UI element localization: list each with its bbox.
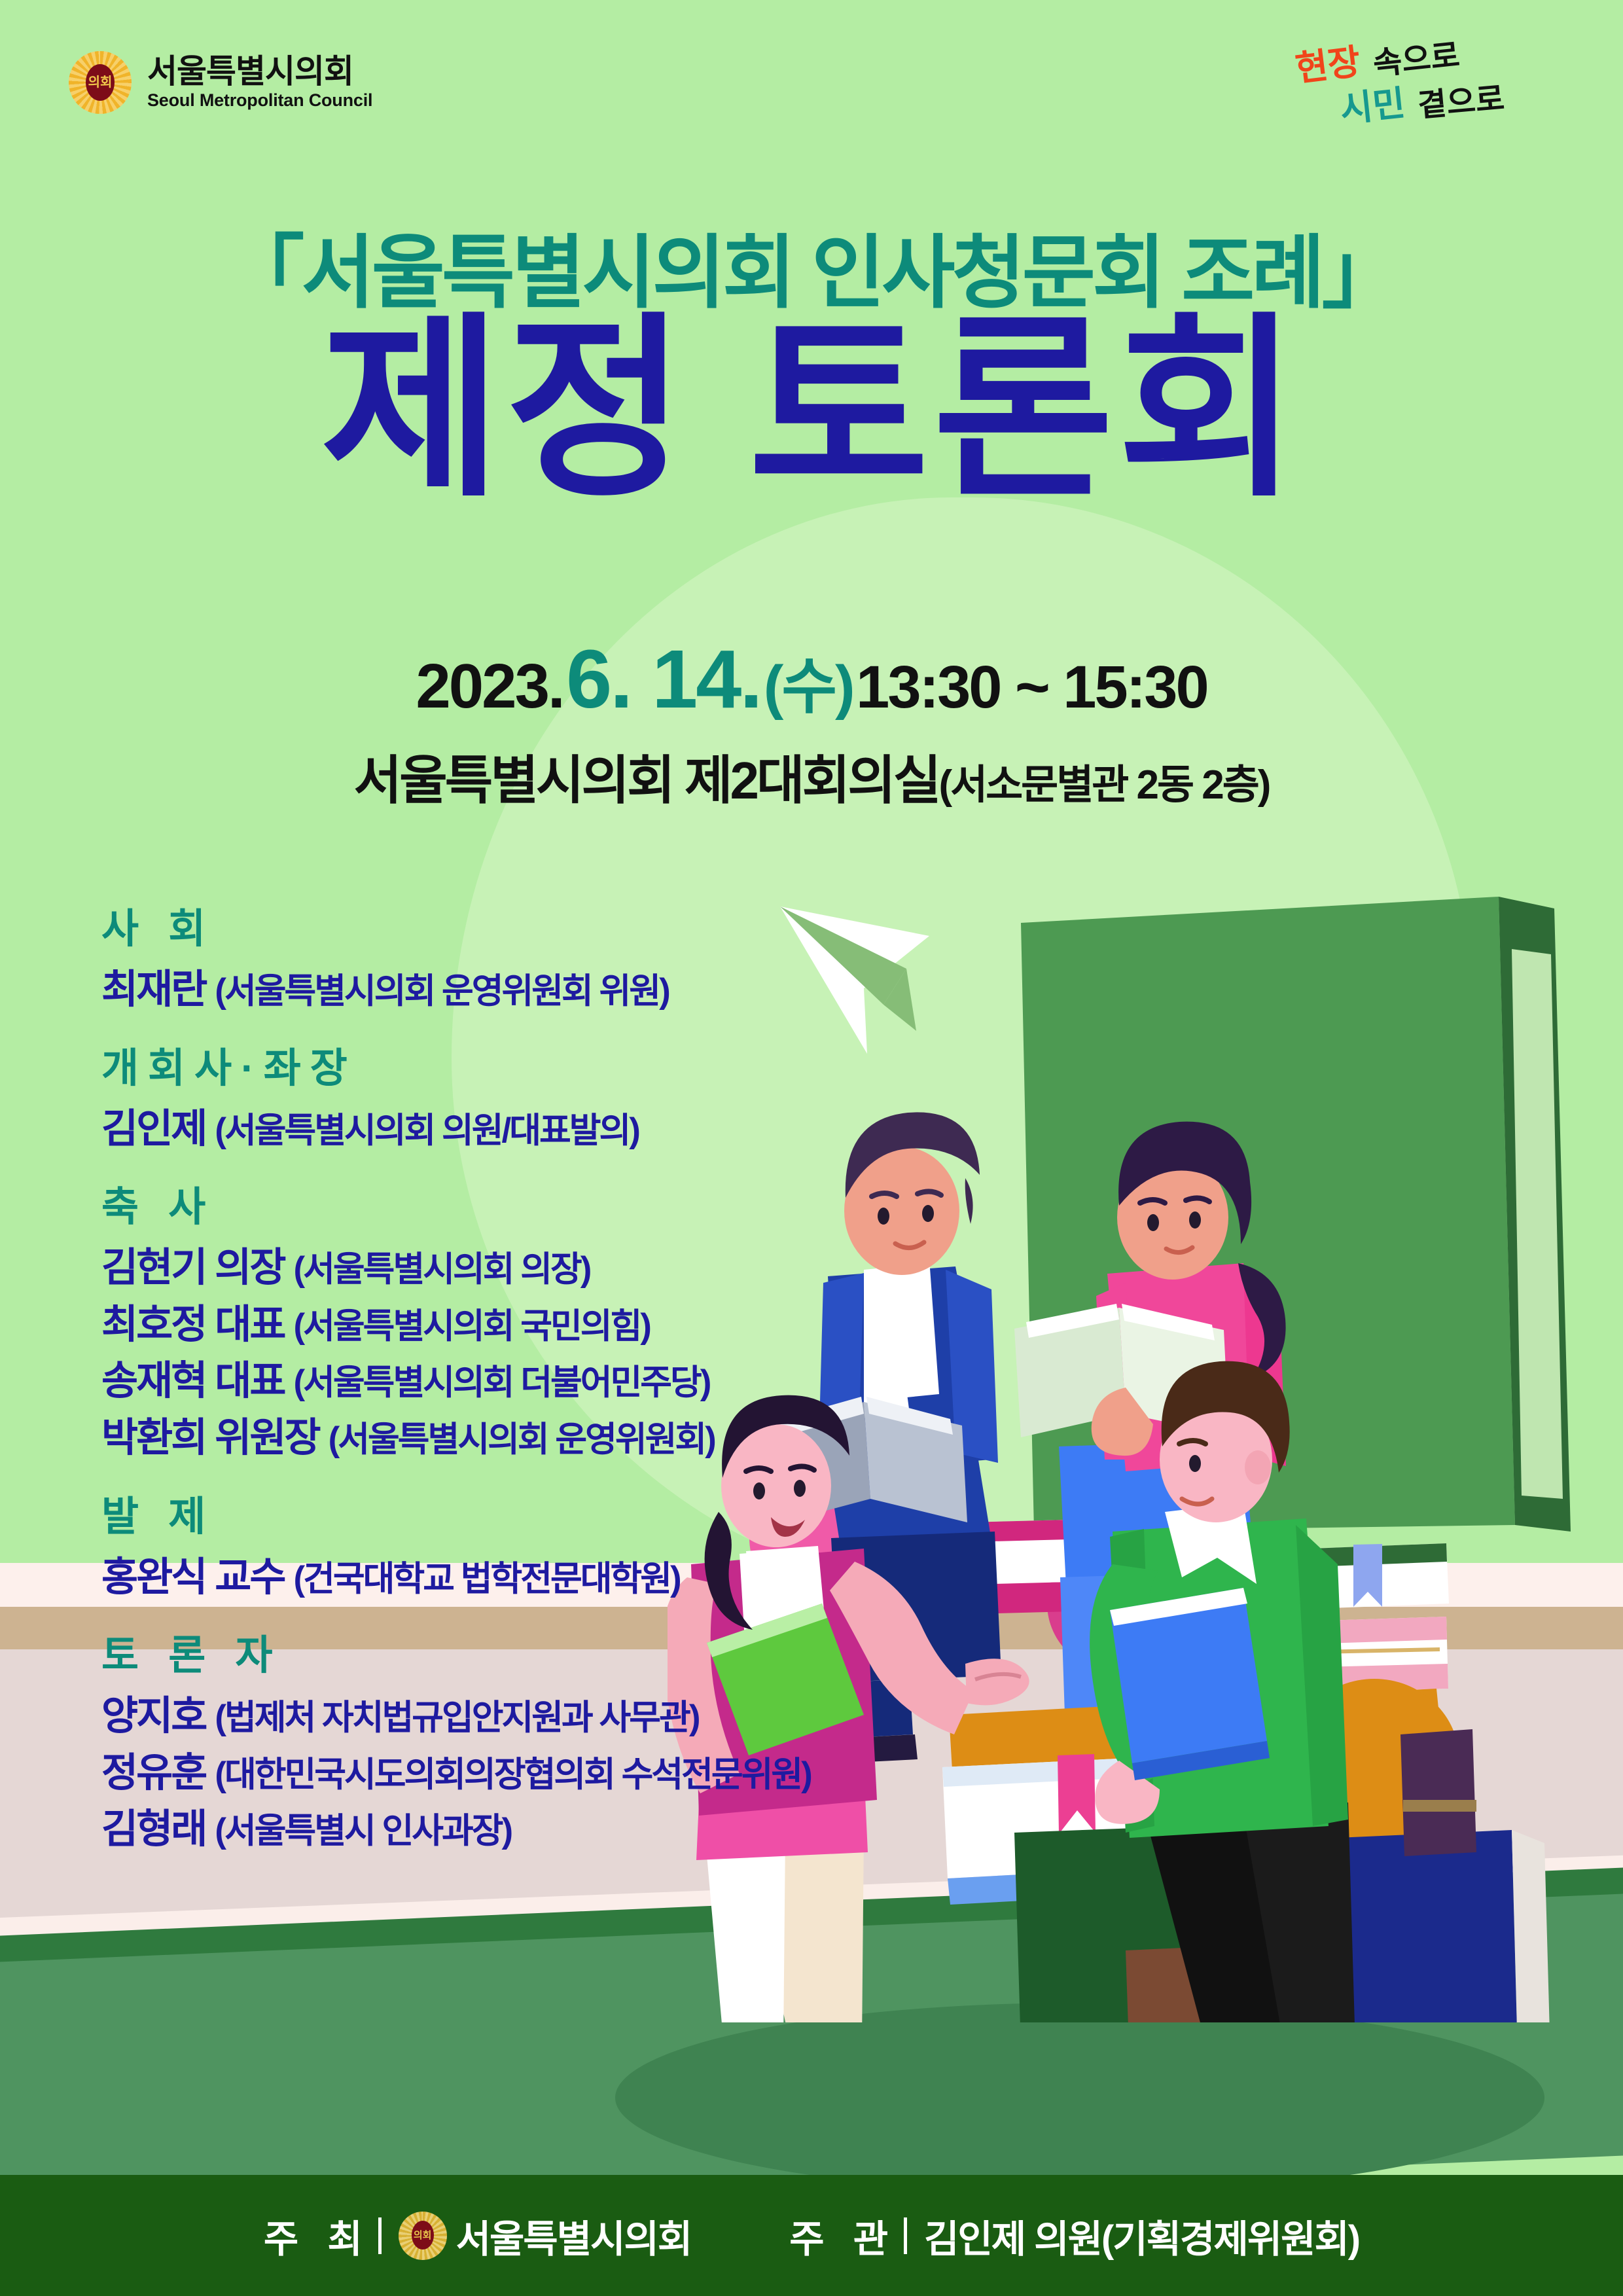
program-label: 개회사·좌장 [101, 1035, 926, 1094]
slogan-word-gyeoteuro: 곁으로 [1416, 82, 1506, 124]
organizer-label: 주 관 [789, 2208, 897, 2263]
program-label: 발 제 [101, 1483, 926, 1542]
person-name: 박환희 위원장 [101, 1415, 319, 1460]
person-name: 정유훈 [101, 1750, 205, 1795]
program-entry: 박환희 위원장 (서울특별시의회 운영위원회) [101, 1409, 926, 1466]
person-name: 양지호 [101, 1693, 205, 1738]
program-block-congratulatory: 축 사 김현기 의장 (서울특별시의회 의장) 최호정 대표 (서울특별시의회 … [101, 1174, 926, 1465]
footer-emblem-icon: 의회 [399, 2212, 447, 2260]
program-entry: 홍완식 교수 (건국대학교 법학전문대학원) [101, 1549, 926, 1605]
person-name: 송재혁 대표 [101, 1358, 285, 1403]
slogan-word-sogeuro: 속으로 [1372, 41, 1461, 82]
slogan-word-hyeonjang: 현장 [1293, 42, 1363, 89]
slogan-word-simin: 시민 [1338, 84, 1407, 130]
floor-shadow-ellipse [615, 2003, 1544, 2193]
person-org: (서울특별시의회 더불어민주당) [294, 1363, 710, 1402]
program-label: 사 회 [101, 895, 926, 954]
venue-sub: (서소문별관 2동 2층) [938, 762, 1269, 808]
person-org: (서울특별시의회 운영위원회 위원) [215, 972, 668, 1011]
person-org: (대한민국시도의회의장협의회 수석전문위원) [215, 1755, 810, 1794]
person-org: (서울특별시의회 의원/대표발의) [215, 1111, 639, 1150]
organizer-group: 주 관 김인제 의원(기획경제위원회) [789, 2208, 1359, 2263]
person-org: (서울특별시의회 운영위원회) [329, 1420, 715, 1459]
program-entry: 김인제 (서울특별시의회 의원/대표발의) [101, 1100, 926, 1157]
footer-bar: 주 최 의회 서울특별시의회 주 관 김인제 의원(기획경제위원회) [0, 2175, 1623, 2296]
person-org: (건국대학교 법학전문대학원) [294, 1560, 680, 1598]
venue-main: 서울특별시의회 제2대회의실 [354, 751, 939, 810]
person-name: 김인제 [101, 1106, 205, 1151]
organizer-value: 김인제 의원(기획경제위원회) [924, 2208, 1359, 2263]
person-name: 최호정 대표 [101, 1302, 285, 1346]
event-time: 13:30 ~ 15:30 [856, 654, 1207, 721]
footer-emblem-label: 의회 [414, 2228, 432, 2242]
program-entry: 정유훈 (대한민국시도의회의장협의회 수석전문위원) [101, 1744, 926, 1801]
page-title: 제정 토론회 [0, 306, 1623, 512]
campaign-slogan: 현장 속으로 시민 곁으로 [1291, 41, 1552, 132]
program-block-panelists: 토 론 자 양지호 (법제처 자치법규입안지원과 사무관) 정유훈 (대한민국시… [101, 1622, 926, 1857]
person-org: (서울특별시의회 국민의힘) [294, 1307, 650, 1346]
person-org: (서울특별시 인사과장) [215, 1812, 511, 1850]
program-entry: 송재혁 대표 (서울특별시의회 더불어민주당) [101, 1352, 926, 1409]
logo-english-name: Seoul Metropolitan Council [147, 90, 372, 111]
event-year: 2023. [416, 651, 563, 721]
logo-korean-name: 서울특별시의회 [147, 54, 372, 89]
event-datetime: 2023. 6. 14. (수) 13:30 ~ 15:30 [0, 632, 1623, 726]
host-value: 서울특별시의회 [456, 2208, 692, 2263]
program-entry: 김형래 (서울특별시 인사과장) [101, 1801, 926, 1857]
emblem-label: 의회 [88, 76, 113, 89]
event-monthday: 6. 14. [566, 633, 760, 725]
program-label: 토 론 자 [101, 1622, 926, 1681]
event-venue: 서울특별시의회 제2대회의실(서소문별관 2동 2층) [0, 738, 1623, 814]
program-entry: 최재란 (서울특별시의회 운영위원회 위원) [101, 961, 926, 1018]
person-name: 홍완식 교수 [101, 1554, 285, 1599]
program-block-presentation: 발 제 홍완식 교수 (건국대학교 법학전문대학원) [101, 1483, 926, 1605]
person-name: 김현기 의장 [101, 1245, 285, 1289]
program-label: 축 사 [101, 1174, 926, 1232]
program-entry: 김현기 의장 (서울특별시의회 의장) [101, 1239, 926, 1296]
event-poster: 의회 서울특별시의회 Seoul Metropolitan Council 현장… [0, 0, 1623, 2296]
divider [904, 2217, 907, 2254]
person-name: 최재란 [101, 967, 205, 1011]
program-entry: 최호정 대표 (서울특별시의회 국민의힘) [101, 1296, 926, 1353]
program-entry: 양지호 (법제처 자치법규입안지원과 사무관) [101, 1687, 926, 1744]
person-name: 김형래 [101, 1806, 205, 1851]
person-org: (서울특별시의회 의장) [294, 1250, 590, 1289]
program-list: 사 회 최재란 (서울특별시의회 운영위원회 위원) 개회사·좌장 김인제 (서… [101, 895, 926, 1874]
person-org: (법제처 자치법규입안지원과 사무관) [215, 1698, 698, 1737]
event-dayofweek: (수) [764, 654, 853, 721]
host-label: 주 최 [264, 2208, 372, 2263]
host-group: 주 최 의회 서울특별시의회 [264, 2208, 691, 2263]
divider [378, 2217, 382, 2254]
program-block-moderator: 사 회 최재란 (서울특별시의회 운영위원회 위원) [101, 895, 926, 1018]
program-block-opening: 개회사·좌장 김인제 (서울특별시의회 의원/대표발의) [101, 1035, 926, 1157]
council-logo: 의회 서울특별시의회 Seoul Metropolitan Council [69, 51, 372, 114]
council-emblem-icon: 의회 [69, 51, 132, 114]
